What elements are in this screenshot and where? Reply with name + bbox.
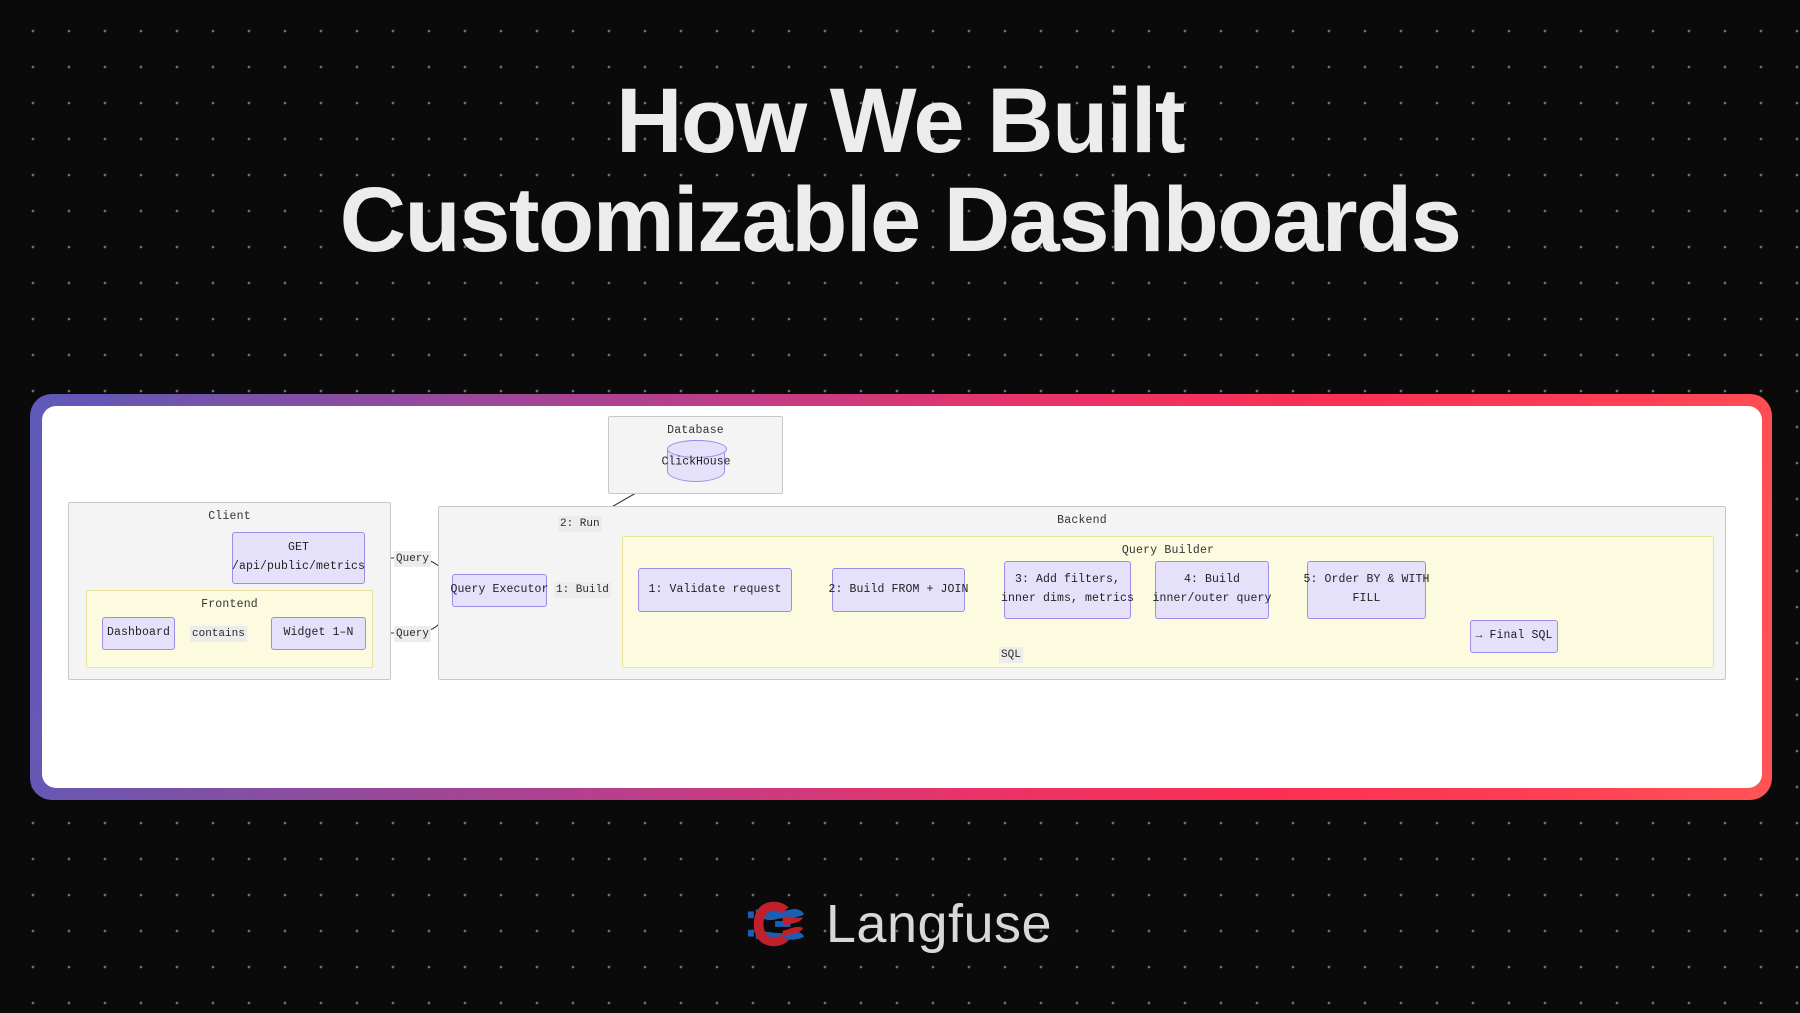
diagram-card: Database ClickHouse Client GET /api/publ…: [42, 406, 1762, 788]
node-clickhouse-label: ClickHouse: [661, 456, 730, 469]
group-query-builder-title: Query Builder: [623, 544, 1713, 557]
node-step-1: 1: Validate request: [638, 568, 792, 612]
title-line-1: How We Built: [0, 72, 1800, 171]
title-line-2: Customizable Dashboards: [0, 171, 1800, 270]
node-get-metrics-path: /api/public/metrics: [232, 558, 365, 577]
node-step-4: 4: Build inner/outer query: [1155, 561, 1269, 619]
page-title: How We Built Customizable Dashboards: [0, 72, 1800, 271]
edge-label-sql: SQL: [999, 647, 1023, 663]
node-dashboard: Dashboard: [102, 617, 175, 650]
node-step-1-label: 1: Validate request: [648, 581, 781, 600]
brand-footer: Langfuse: [0, 893, 1800, 955]
diagram-card-frame: Database ClickHouse Client GET /api/publ…: [30, 394, 1772, 800]
node-step-5-line-1: 5: Order BY & WITH: [1303, 571, 1429, 590]
group-frontend-title: Frontend: [87, 598, 372, 611]
edge-label-query-top: Query: [394, 551, 431, 567]
node-query-executor: Query Executor: [452, 574, 547, 607]
edge-label-query-bottom: Query: [394, 626, 431, 642]
node-step-4-line-1: 4: Build: [1184, 571, 1240, 590]
langfuse-logo-icon: [748, 897, 806, 951]
node-widget: Widget 1–N: [271, 617, 366, 650]
node-step-4-line-2: inner/outer query: [1152, 590, 1271, 609]
node-final-sql: → Final SQL: [1470, 620, 1558, 653]
group-backend-title: Backend: [439, 514, 1725, 527]
node-get-metrics-method: GET: [288, 539, 309, 558]
node-final-sql-label: → Final SQL: [1475, 627, 1552, 646]
group-client-title: Client: [69, 510, 390, 523]
edge-label-contains: contains: [190, 626, 247, 642]
node-step-3-line-1: 3: Add filters,: [1015, 571, 1120, 590]
node-widget-label: Widget 1–N: [283, 624, 353, 643]
node-step-5-line-2: FILL: [1352, 590, 1380, 609]
node-step-2: 2: Build FROM + JOIN: [832, 568, 965, 612]
node-get-metrics: GET /api/public/metrics: [232, 532, 365, 584]
node-dashboard-label: Dashboard: [107, 624, 170, 643]
group-database-title: Database: [609, 424, 782, 437]
edge-label-build: 1: Build: [554, 582, 611, 598]
architecture-diagram: Database ClickHouse Client GET /api/publ…: [42, 406, 1762, 788]
node-step-3: 3: Add filters, inner dims, metrics: [1004, 561, 1131, 619]
node-step-5: 5: Order BY & WITH FILL: [1307, 561, 1426, 619]
poster-canvas: How We Built Customizable Dashboards: [0, 0, 1800, 1013]
node-step-2-label: 2: Build FROM + JOIN: [828, 581, 968, 600]
node-step-3-line-2: inner dims, metrics: [1001, 590, 1134, 609]
brand-name: Langfuse: [826, 893, 1052, 955]
edge-label-run: 2: Run: [558, 516, 602, 532]
node-query-executor-label: Query Executor: [451, 581, 549, 600]
